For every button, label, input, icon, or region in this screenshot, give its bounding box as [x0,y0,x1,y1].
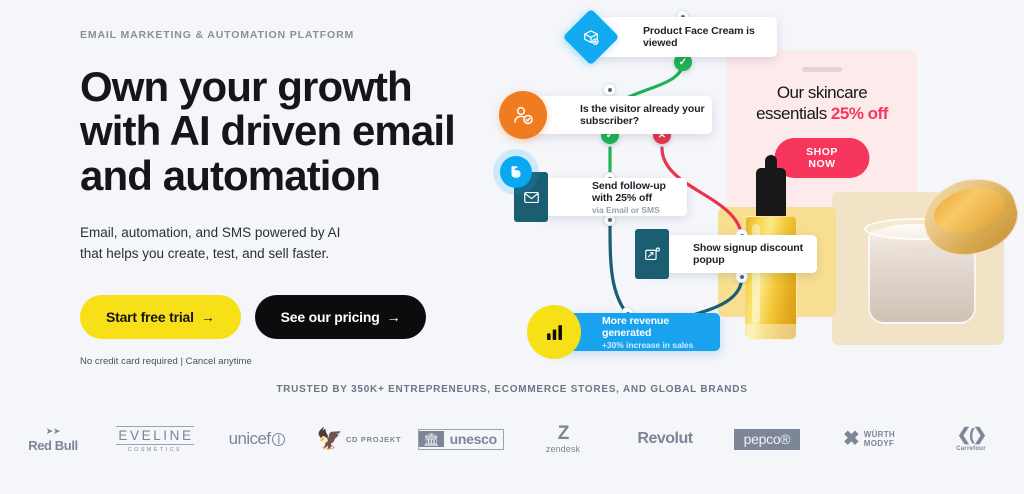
workflow-node-trigger[interactable]: Product Face Cream is viewed [595,17,777,57]
brand-logo-label: Red Bull [28,438,78,453]
cta-row: Start free trial → See our pricing → [80,295,500,339]
brand-logo-carrefour: ❮(❯ Carrefour [920,419,1022,459]
headline-line-2: with AI driven email [80,109,500,154]
hero-eyebrow: EMAIL MARKETING & AUTOMATION PLATFORM [80,30,500,41]
brand-logo-cd-projekt: 🦅 CD PROJEKT [308,419,410,459]
wurth-lockup: ✖ WÜRTH MODYF [843,429,895,449]
page-title: Own your growth with AI driven email and… [80,65,500,200]
brand-logo-label: Revolut [637,430,692,448]
workflow-node-followup[interactable]: Send follow-up with 25% off via Email or… [542,178,687,216]
wurth-line-1: WÜRTH [864,430,895,439]
see-our-pricing-label: See our pricing [281,309,380,325]
arrow-right-icon: → [201,309,215,325]
see-our-pricing-button[interactable]: See our pricing → [255,295,427,339]
automation-workflow-illustration: Our skincare essentials 25% off SHOP NOW… [490,0,1024,384]
workflow-node-popup[interactable]: Show signup discount popup [645,235,817,273]
brand-logo-revolut: Revolut [614,419,716,459]
node-label: Is the visitor already your subscriber? [580,103,712,127]
node-label: Show signup discount popup [693,242,817,266]
subheadline-line-2: that helps you create, test, and sell fa… [80,244,500,265]
hero-subheadline: Email, automation, and SMS powered by AI… [80,223,500,265]
brand-logo-wurth-modyf: ✖ WÜRTH MODYF [818,419,920,459]
brand-logo-unicef: unicef [206,419,308,459]
red-bull-mark-icon: ➤➤ [46,426,60,437]
brand-logo-label: zendesk [546,444,580,454]
brand-logo-label: pepco® [734,429,801,450]
popup-icon [635,229,669,279]
workflow-node-condition[interactable]: Is the visitor already your subscriber? [522,96,712,134]
temple-icon: 🏛 [419,431,444,447]
cd-projekt-lockup: 🦅 CD PROJEKT [317,429,402,450]
port-condition-top[interactable] [603,83,616,96]
node-label: More revenue generated [602,315,720,339]
subscriber-check-icon [499,91,547,139]
hero-section: EMAIL MARKETING & AUTOMATION PLATFORM Ow… [80,30,500,367]
brand-logo-red-bull: ➤➤ Red Bull [2,419,104,459]
brand-logo-label: unesco [444,430,503,449]
brand-logo-unesco: 🏛 unesco [410,419,512,459]
node-text: Is the visitor already your subscriber? [580,103,712,127]
start-free-trial-label: Start free trial [106,309,194,325]
wurth-line-2: MODYF [864,439,894,448]
node-sublabel: +30% increase in sales [602,340,720,350]
unicef-wordmark: unicef [229,429,271,449]
bar-chart-icon [527,305,581,359]
click-cursor-icon [500,156,532,188]
brand-logo-row: ➤➤ Red Bull EVELINE COSMETICS unicef 🦅 C… [0,419,1024,459]
eagle-icon: 🦅 [317,429,343,450]
start-free-trial-button[interactable]: Start free trial → [80,295,241,339]
node-text: Product Face Cream is viewed [643,25,777,49]
node-label: Send follow-up with 25% off [592,180,687,204]
headline-line-3: and automation [80,154,500,199]
subheadline-line-1: Email, automation, and SMS powered by AI [80,223,500,244]
cta-fineprint: No credit card required | Cancel anytime [80,356,500,367]
brand-logo-label: CD PROJEKT [346,435,401,444]
brand-logo-label: Carrefour [956,446,986,452]
node-label: Product Face Cream is viewed [643,25,777,49]
carrefour-mark-icon: ❮(❯ [957,426,985,443]
brand-logo-sublabel: COSMETICS [128,447,182,453]
globe-icon [272,433,285,446]
headline-line-1: Own your growth [80,65,500,110]
arrow-right-icon: → [387,309,401,325]
brand-logo-label: unicef [229,429,286,449]
brand-logo-pepco: pepco® [716,419,818,459]
node-text: More revenue generated +30% increase in … [602,315,720,350]
brand-logo-zendesk: Z zendesk [512,419,614,459]
node-sublabel: via Email or SMS [592,205,687,215]
brand-logo-eveline: EVELINE COSMETICS [104,419,206,459]
zendesk-mark-icon: Z [558,424,569,443]
workflow-node-revenue[interactable]: More revenue generated +30% increase in … [550,313,720,351]
unesco-lockup: 🏛 unesco [418,429,504,450]
brand-logo-label: WÜRTH MODYF [864,430,895,448]
brand-logo-label: EVELINE [116,426,193,445]
wurth-mark-icon: ✖ [843,429,860,449]
trusted-by-section: TRUSTED BY 350K+ ENTREPRENEURS, ECOMMERC… [0,384,1024,459]
trusted-by-label: TRUSTED BY 350K+ ENTREPRENEURS, ECOMMERC… [0,384,1024,395]
node-text: Send follow-up with 25% off via Email or… [592,180,687,215]
node-text: Show signup discount popup [693,242,817,266]
